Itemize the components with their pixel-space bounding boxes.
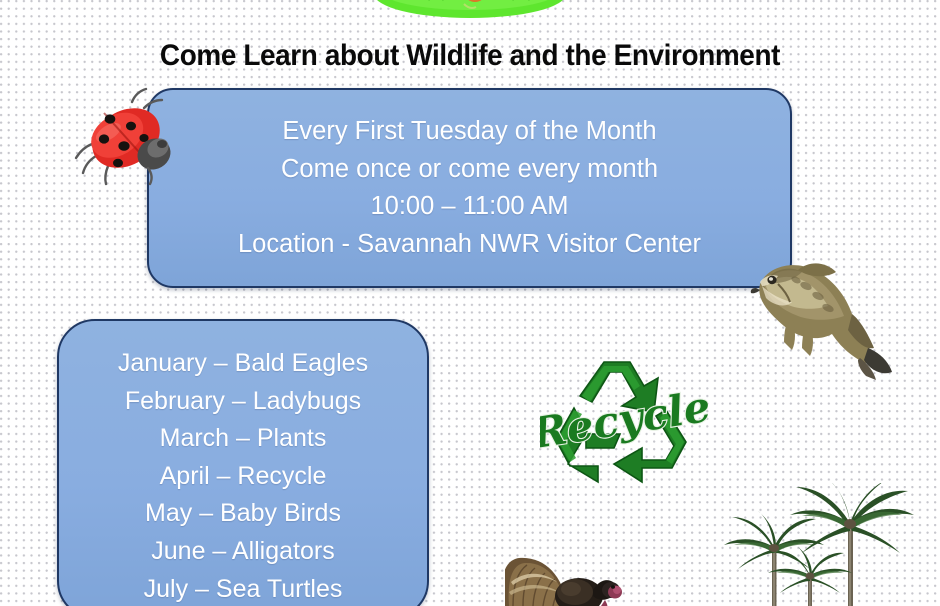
poster-canvas: Come Learn about Wildlife and the Enviro… bbox=[0, 0, 940, 606]
info-line: Every First Tuesday of the Month bbox=[149, 113, 790, 151]
month-line: July – Sea Turtles bbox=[59, 571, 427, 606]
monthly-topics-panel: January – Bald Eagles February – Ladybug… bbox=[57, 319, 429, 606]
recycle-logo-clipart: Recycle bbox=[540, 348, 708, 504]
info-line: Come once or come every month bbox=[149, 151, 790, 189]
palm-trees-clipart bbox=[722, 483, 940, 606]
month-line: January – Bald Eagles bbox=[59, 345, 427, 383]
info-line: Location - Savannah NWR Visitor Center bbox=[149, 226, 790, 264]
month-line: June – Alligators bbox=[59, 533, 427, 571]
page-title: Come Learn about Wildlife and the Enviro… bbox=[33, 38, 907, 74]
wild-turkey-clipart bbox=[505, 552, 633, 606]
month-line: April – Recycle bbox=[59, 458, 427, 496]
month-line: February – Ladybugs bbox=[59, 383, 427, 421]
ladybug-clipart bbox=[74, 86, 186, 190]
month-line: May – Baby Birds bbox=[59, 495, 427, 533]
largemouth-bass-clipart bbox=[748, 250, 896, 382]
event-info-panel: Every First Tuesday of the Month Come on… bbox=[147, 88, 792, 288]
green-grass-clipart bbox=[372, 0, 568, 22]
info-line: 10:00 – 11:00 AM bbox=[149, 188, 790, 226]
month-line: March – Plants bbox=[59, 420, 427, 458]
